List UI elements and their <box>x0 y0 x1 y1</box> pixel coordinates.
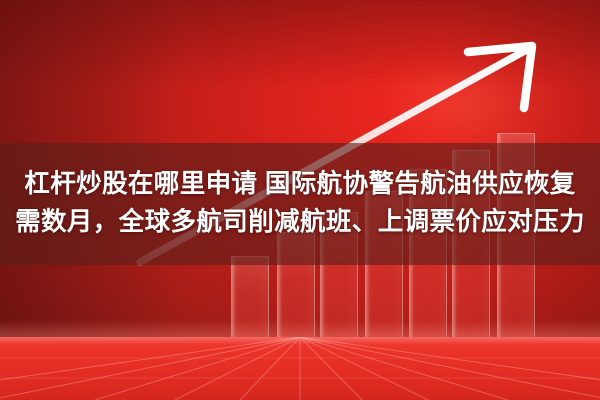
news-banner: 杠杆炒股在哪里申请 国际航协警告航油供应恢复 需数月，全球多航司削减航班、上调票… <box>0 0 600 400</box>
headline-line-2: 需数月，全球多航司削减航班、上调票价应对压力 <box>15 206 585 240</box>
perspective-grid-floor <box>0 337 600 400</box>
headline-line-1: 杠杆炒股在哪里申请 国际航协警告航油供应恢复 <box>24 168 575 202</box>
headline-text: 杠杆炒股在哪里申请 国际航协警告航油供应恢复 需数月，全球多航司削减航班、上调票… <box>0 143 600 265</box>
bar-1 <box>231 256 269 338</box>
